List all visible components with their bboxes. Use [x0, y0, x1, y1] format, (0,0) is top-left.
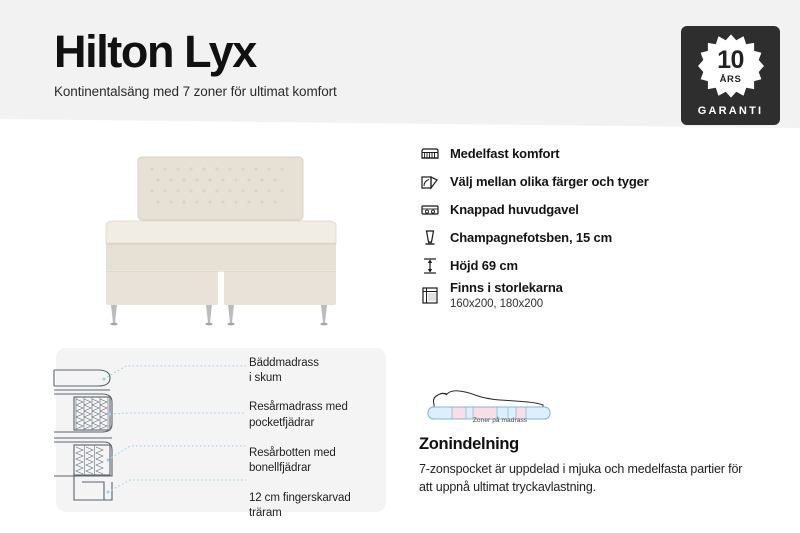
mattress-cross-section-diagram: [46, 352, 246, 508]
badge-years-unit: ÅRS: [720, 74, 742, 85]
feature-label-group: Finns i storlekarna 160x200, 180x200: [450, 280, 563, 310]
feature-row: Välj mellan olika färger och tyger: [420, 168, 760, 196]
page-title: Hilton Lyx: [54, 28, 474, 75]
feature-sublabel: 160x200, 180x200: [450, 298, 563, 310]
warranty-badge: 10 ÅRS GARANTI: [681, 26, 780, 125]
starburst-icon: 10 ÅRS: [698, 33, 764, 99]
bed-photo: [78, 147, 363, 332]
badge-years: 10: [717, 48, 744, 73]
badge-star-text: 10 ÅRS: [698, 33, 764, 99]
zones-heading: Zonindelning: [419, 435, 519, 454]
title-block: Hilton Lyx Kontinentalsäng med 7 zoner f…: [54, 28, 474, 99]
feature-label: Finns i storlekarna: [450, 280, 563, 296]
feature-label: Medelfast komfort: [450, 146, 559, 162]
feature-row: Champagnefotsben, 15 cm: [420, 224, 760, 252]
page-subtitle: Kontinentalsäng med 7 zoner för ultimat …: [54, 84, 474, 99]
feature-row: Knappad huvudgavel: [420, 196, 760, 224]
layer-label: Bäddmadrass i skum: [249, 356, 389, 386]
zones-caption: Zoner på madrass: [440, 417, 560, 424]
mattress-icon: [420, 141, 450, 167]
bed-leg-icon: [420, 225, 450, 251]
bed-size-icon: [420, 282, 450, 308]
feature-label: Höjd 69 cm: [450, 258, 518, 274]
zones-body: 7-zonspocket är uppdelad i mjuka och med…: [419, 460, 749, 496]
headboard-icon: [420, 197, 450, 223]
layer-label: Resårbotten med bonellfjädrar: [249, 446, 389, 476]
feature-row: Höjd 69 cm: [420, 252, 760, 280]
layer-labels: Bäddmadrass i skum Resårmadrass med pock…: [249, 356, 389, 521]
badge-label: GARANTI: [698, 105, 764, 117]
features-list: Medelfast komfort Välj mellan olika färg…: [420, 140, 760, 314]
feature-row: Medelfast komfort: [420, 140, 760, 168]
fabric-swatch-icon: [420, 169, 450, 195]
product-infographic: Hilton Lyx Kontinentalsäng med 7 zoner f…: [0, 0, 800, 533]
feature-label: Välj mellan olika färger och tyger: [450, 174, 649, 190]
feature-row: Finns i storlekarna 160x200, 180x200: [420, 280, 760, 314]
feature-label: Champagnefotsben, 15 cm: [450, 230, 612, 246]
feature-label: Knappad huvudgavel: [450, 202, 579, 218]
layer-label: Resårmadrass med pocketfjädrar: [249, 400, 389, 430]
height-arrow-icon: [420, 253, 450, 279]
layer-label: 12 cm fingerskarvad träram: [249, 491, 389, 521]
